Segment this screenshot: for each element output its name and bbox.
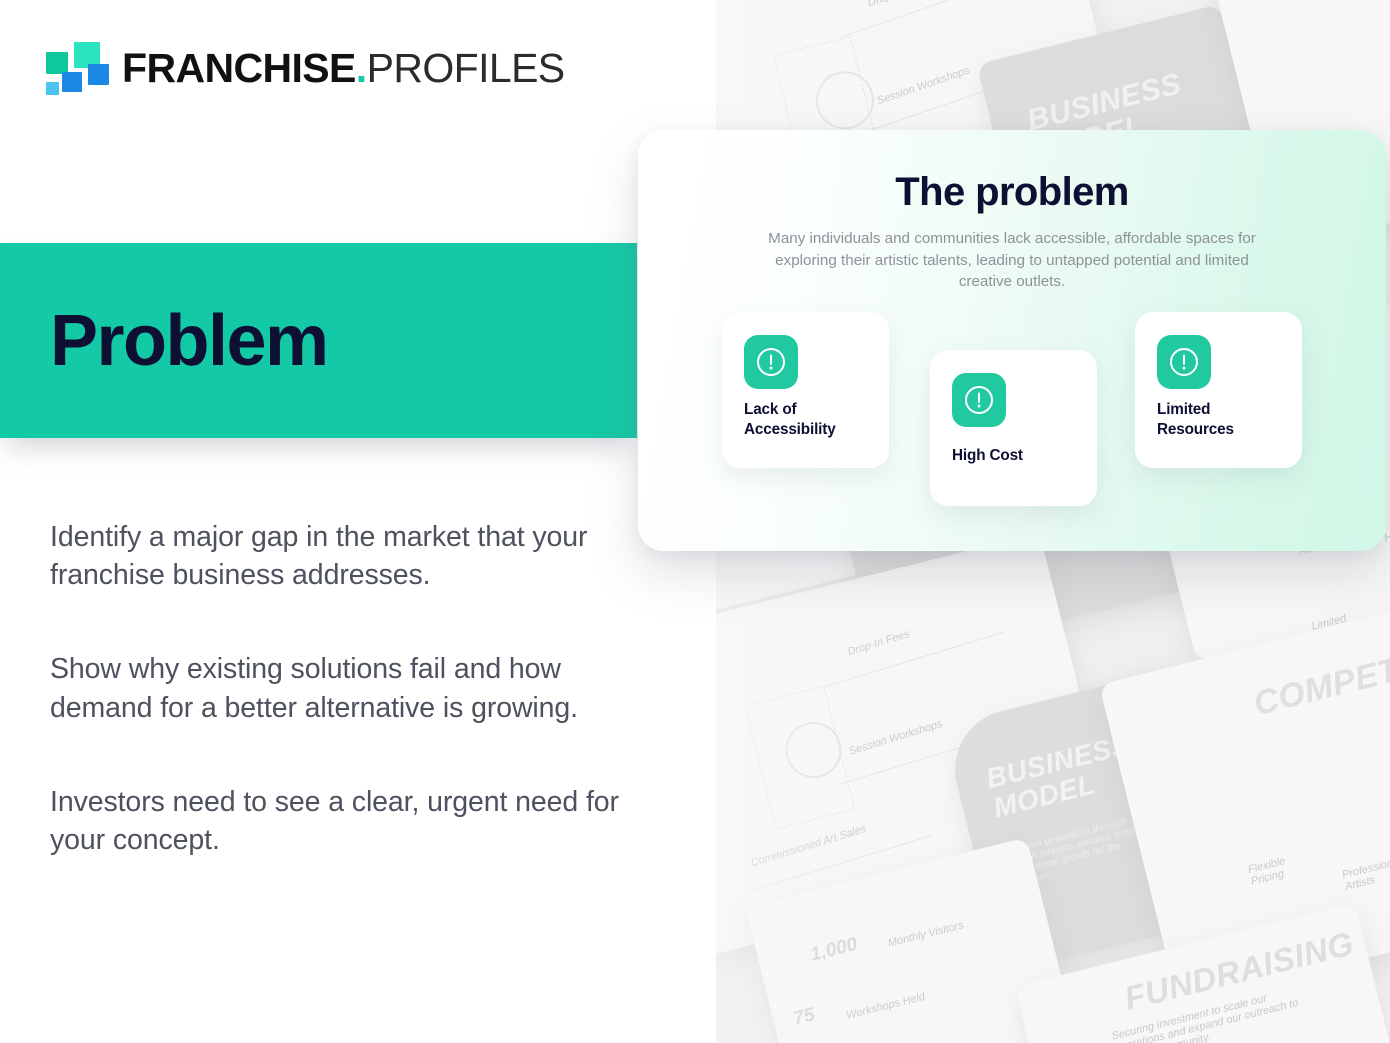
alert-circle-icon <box>744 335 798 389</box>
bg-value-monthly-visitors: 1,000 <box>808 934 859 967</box>
problem-card-label: Limited Resources <box>1157 400 1290 440</box>
problem-card-lack-of-accessibility[interactable]: Lack of Accessibility <box>722 312 889 468</box>
problem-preview-panel[interactable]: The problem Many individuals and communi… <box>638 130 1386 551</box>
brand-logo[interactable]: FRANCHISE.PROFILES <box>46 42 565 94</box>
panel-subtitle: Many individuals and communities lack ac… <box>751 228 1273 293</box>
bg-label-workshops-held: Workshops Held <box>845 991 926 1022</box>
problem-card-label: Lack of Accessibility <box>744 400 877 440</box>
alert-circle-icon <box>952 373 1006 427</box>
logo-square-5 <box>46 82 59 95</box>
logo-word-profiles: PROFILES <box>367 45 565 91</box>
logo-word-franchise: FRANCHISE <box>122 45 356 91</box>
section-heading-band: Problem <box>0 243 637 438</box>
bg-label-flexible-pricing: Flexible Pricing <box>1247 850 1311 888</box>
bg-title-competition: COMPETITION <box>1250 628 1390 724</box>
panel-title: The problem <box>638 172 1386 212</box>
logo-square-1 <box>46 52 68 74</box>
logo-dot: . <box>356 45 367 91</box>
bg-label-commissioned-art-2: Commissioned Art Sales <box>749 823 867 870</box>
paragraph-2: Show why existing solutions fail and how… <box>50 650 630 726</box>
bg-label-drop-in-fees-2: Drop-In Fees <box>846 628 911 658</box>
bg-label-monthly-visitors: Monthly Visitors <box>887 919 965 949</box>
problem-card-limited-resources[interactable]: Limited Resources <box>1135 312 1302 468</box>
problem-card-label: High Cost <box>952 446 1085 466</box>
logo-wordmark: FRANCHISE.PROFILES <box>122 48 565 89</box>
description-copy: Identify a major gap in the market that … <box>50 518 630 859</box>
bg-label-session-workshops-2: Session Workshops <box>847 718 943 758</box>
bg-label-professional-artists: Professional Artists <box>1341 853 1390 893</box>
logo-square-3 <box>62 72 82 92</box>
bg-value-workshops-held: 75 <box>791 1004 817 1030</box>
problem-card-high-cost[interactable]: High Cost <box>930 350 1097 506</box>
alert-circle-icon <box>1157 335 1211 389</box>
problem-cards-group: Lack of Accessibility High Cost Limi <box>722 312 1318 522</box>
paragraph-3: Investors need to see a clear, urgent ne… <box>50 783 630 859</box>
left-content-column: FRANCHISE.PROFILES Problem Identify a ma… <box>0 0 716 1043</box>
logo-square-4 <box>88 64 109 85</box>
paragraph-1: Identify a major gap in the market that … <box>50 518 630 594</box>
logo-squares-icon <box>46 42 104 94</box>
page-title: Problem <box>0 305 328 377</box>
